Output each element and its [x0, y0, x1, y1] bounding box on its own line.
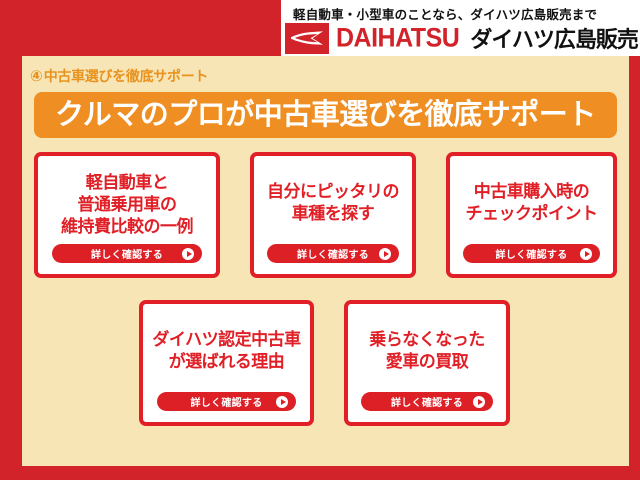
site-header: 軽自動車・小型車のことなら、ダイハツ広島販売まで DAIHATSU ダイハツ広島… [281, 0, 640, 56]
brand-logo[interactable]: DAIHATSU ダイハツ広島販売 [285, 22, 638, 54]
details-button[interactable]: 詳しく確認する [463, 244, 600, 263]
card-title: 乗らなくなった 愛車の買取 [369, 329, 485, 373]
details-button-label: 詳しく確認する [391, 394, 463, 409]
support-card[interactable]: ダイハツ認定中古車 が選ばれる理由 詳しく確認する [139, 300, 314, 426]
details-button[interactable]: 詳しく確認する [361, 392, 493, 411]
header-tagline: 軽自動車・小型車のことなら、ダイハツ広島販売まで [293, 4, 597, 23]
section-heading-label: 中古車選びを徹底サポート [44, 66, 208, 86]
details-button[interactable]: 詳しく確認する [267, 244, 399, 263]
details-button-label: 詳しく確認する [495, 246, 567, 261]
brand-wordmark: DAIHATSU [336, 23, 459, 54]
details-button-label: 詳しく確認する [91, 246, 163, 261]
play-circle-icon [182, 248, 194, 260]
play-circle-icon [580, 248, 592, 260]
dealer-name: ダイハツ広島販売 [470, 22, 638, 54]
headline-text: クルマのプロが中古車選びを徹底サポート [55, 101, 596, 130]
support-card[interactable]: 自分にピッタリの 車種を探す 詳しく確認する [250, 152, 416, 278]
play-circle-icon [473, 396, 485, 408]
section-heading: ④ 中古車選びを徹底サポート [30, 66, 208, 86]
support-card[interactable]: 軽自動車と 普通乗用車の 維持費比較の一例 詳しく確認する [34, 152, 220, 278]
details-button[interactable]: 詳しく確認する [52, 244, 202, 263]
content-panel: ④ 中古車選びを徹底サポート クルマのプロが中古車選びを徹底サポート 軽自動車と… [22, 56, 629, 466]
card-title: ダイハツ認定中古車 が選ばれる理由 [152, 329, 300, 373]
support-card[interactable]: 乗らなくなった 愛車の買取 詳しく確認する [344, 300, 510, 426]
card-title: 中古車購入時の チェックポイント [466, 181, 598, 225]
section-number-icon: ④ [30, 69, 43, 84]
play-circle-icon [276, 396, 288, 408]
details-button[interactable]: 詳しく確認する [157, 392, 296, 411]
card-title: 自分にピッタリの 車種を探す [267, 181, 399, 225]
headline-banner: クルマのプロが中古車選びを徹底サポート [34, 92, 617, 138]
daihatsu-d-mark-icon [285, 23, 329, 54]
card-title: 軽自動車と 普通乗用車の 維持費比較の一例 [61, 172, 193, 237]
play-circle-icon [379, 248, 391, 260]
details-button-label: 詳しく確認する [297, 246, 369, 261]
support-card[interactable]: 中古車購入時の チェックポイント 詳しく確認する [446, 152, 617, 278]
details-button-label: 詳しく確認する [190, 394, 262, 409]
